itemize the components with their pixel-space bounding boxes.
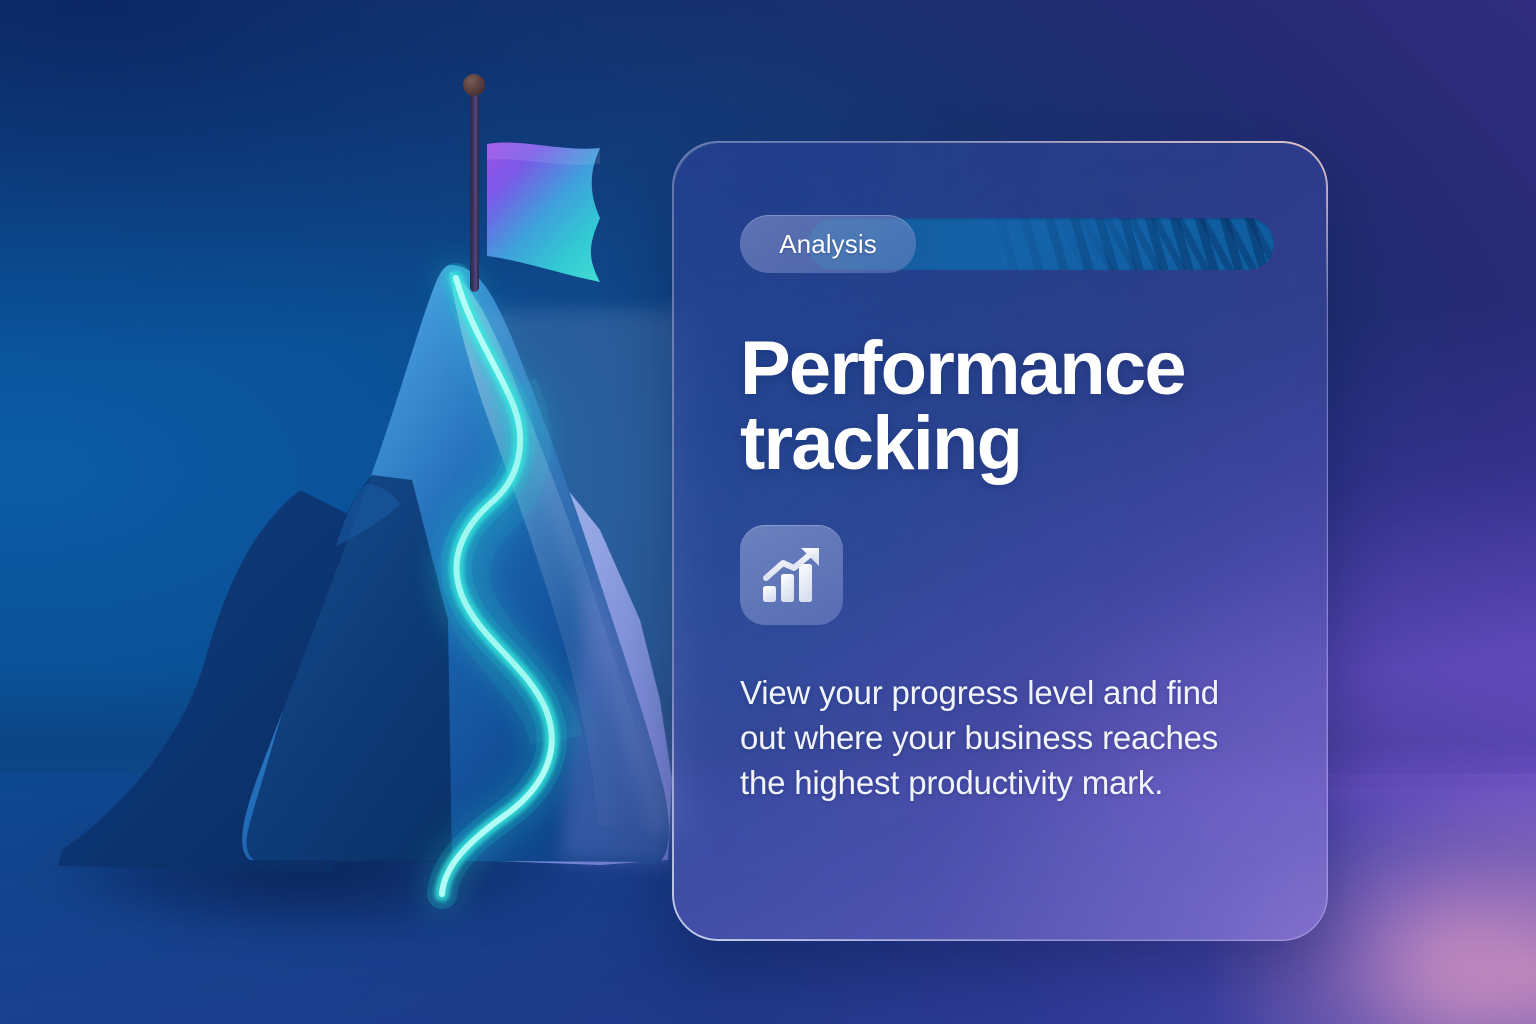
card-header-row: Analysis — [740, 215, 1272, 273]
info-card: Analysis Performance tracking — [672, 141, 1328, 941]
progress-bar-stripes-2 — [1060, 218, 1274, 270]
card-description: View your progress level and find out wh… — [740, 671, 1240, 806]
analysis-tag-label: Analysis — [779, 229, 877, 260]
card-content: Analysis Performance tracking — [672, 141, 1328, 941]
analysis-tag-pill[interactable]: Analysis — [740, 215, 916, 273]
flag-pole-knob — [463, 74, 485, 96]
page-title: Performance tracking — [740, 331, 1210, 481]
scene: Analysis Performance tracking — [0, 0, 1536, 1024]
mountain-shape — [0, 60, 720, 960]
mountain-with-flag-illustration — [0, 60, 720, 960]
growth-chart-icon[interactable] — [740, 525, 843, 625]
growth-chart-icon-glyph — [761, 546, 823, 604]
flag-pole — [470, 82, 479, 292]
